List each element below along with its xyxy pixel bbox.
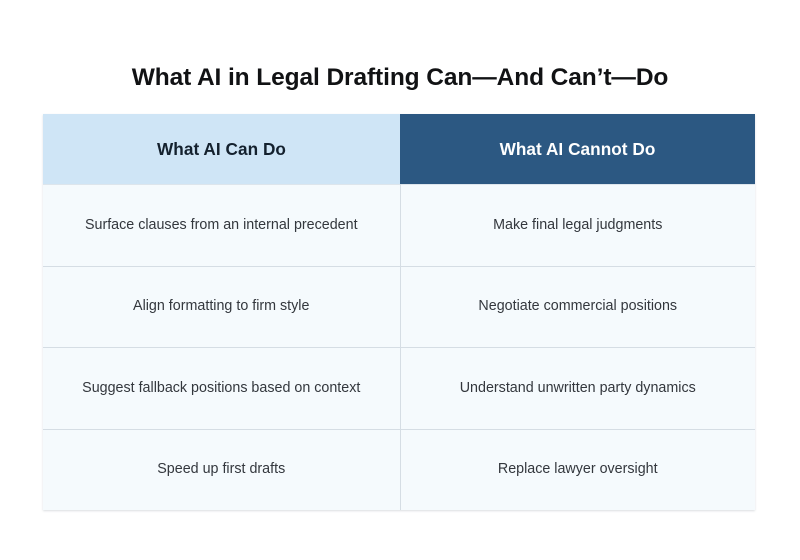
cell-can-1-text: Surface clauses from an internal precede…	[71, 215, 371, 236]
document-page: What AI in Legal Drafting Can—And Can’t—…	[0, 0, 800, 560]
cell-cannot-1-text: Make final legal judgments	[428, 215, 728, 236]
page-title: What AI in Legal Drafting Can—And Can’t—…	[0, 63, 800, 92]
cell-can-3: Suggest fallback positions based on cont…	[43, 348, 400, 430]
cell-cannot-3-text: Understand unwritten party dynamics	[428, 378, 728, 399]
table-row: Align formatting to firm style Negotiate…	[43, 266, 755, 348]
cell-cannot-4: Replace lawyer oversight	[400, 429, 755, 510]
cell-can-1: Surface clauses from an internal precede…	[43, 185, 400, 267]
column-header-what-ai-cannot-do: What AI Cannot Do	[400, 114, 755, 185]
column-header-what-ai-can-do: What AI Can Do	[43, 114, 400, 185]
cell-cannot-3: Understand unwritten party dynamics	[400, 348, 755, 430]
cell-can-2-text: Align formatting to firm style	[71, 296, 371, 317]
cell-can-4: Speed up first drafts	[43, 429, 400, 510]
table-row: Suggest fallback positions based on cont…	[43, 348, 755, 430]
cell-cannot-2: Negotiate commercial positions	[400, 266, 755, 348]
cell-cannot-1: Make final legal judgments	[400, 185, 755, 267]
table-row: Speed up first drafts Replace lawyer ove…	[43, 429, 755, 510]
table-header-row: What AI Can Do What AI Cannot Do	[43, 114, 755, 185]
table-header: What AI Can Do What AI Cannot Do	[43, 114, 755, 185]
cell-can-4-text: Speed up first drafts	[71, 459, 371, 480]
cell-cannot-2-text: Negotiate commercial positions	[428, 296, 728, 317]
cell-can-3-text: Suggest fallback positions based on cont…	[71, 378, 371, 399]
table-row: Surface clauses from an internal precede…	[43, 185, 755, 267]
cell-cannot-4-text: Replace lawyer oversight	[428, 459, 728, 480]
ai-capability-comparison-table: What AI Can Do What AI Cannot Do Surface…	[43, 114, 755, 510]
table-body: Surface clauses from an internal precede…	[43, 185, 755, 511]
cell-can-2: Align formatting to firm style	[43, 266, 400, 348]
